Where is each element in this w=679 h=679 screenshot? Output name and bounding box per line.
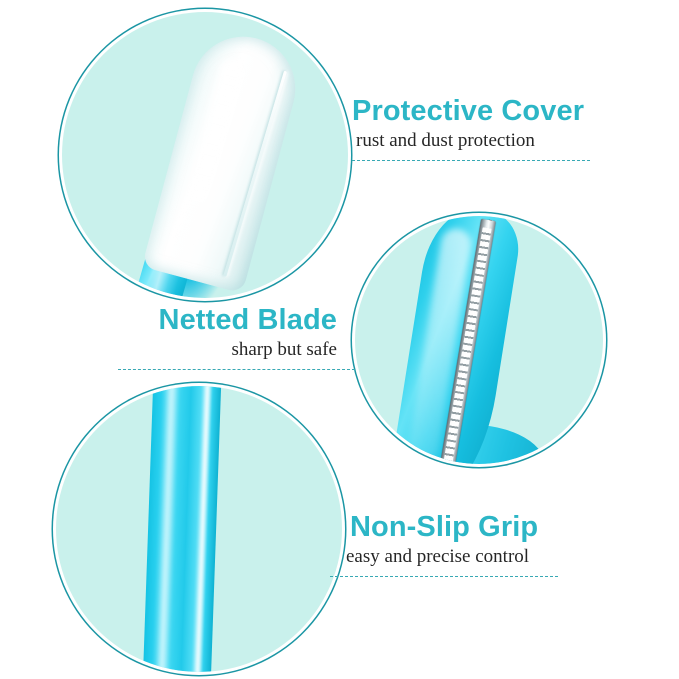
callout-netted-blade: Netted Blade sharp but safe	[118, 305, 355, 370]
callout-title-non-slip-grip: Non-Slip Grip	[330, 512, 558, 542]
callout-subtitle-non-slip-grip: easy and precise control	[330, 545, 558, 569]
callout-divider-protective-cover	[352, 160, 590, 161]
callout-title-netted-blade: Netted Blade	[118, 305, 355, 335]
non-slip-grip-photo	[56, 386, 342, 672]
protective-cover-photo	[62, 12, 348, 298]
callout-non-slip-grip: Non-Slip Grip easy and precise control	[330, 512, 558, 577]
netted-blade-photo	[355, 216, 603, 464]
callout-protective-cover: Protective Cover rust and dust protectio…	[352, 96, 590, 161]
photo-circle-non-slip-grip	[56, 386, 342, 672]
photo-circle-protective-cover	[62, 12, 348, 298]
callout-divider-netted-blade	[118, 369, 355, 370]
white-protective-cap	[142, 25, 307, 293]
callout-subtitle-netted-blade: sharp but safe	[118, 338, 355, 362]
photo-circle-netted-blade	[355, 216, 603, 464]
callout-divider-non-slip-grip	[330, 576, 558, 577]
callout-title-protective-cover: Protective Cover	[352, 96, 590, 126]
product-feature-infographic: Protective Cover rust and dust protectio…	[0, 0, 679, 679]
callout-subtitle-protective-cover: rust and dust protection	[352, 129, 590, 153]
cap-gloss-highlight	[172, 56, 248, 252]
